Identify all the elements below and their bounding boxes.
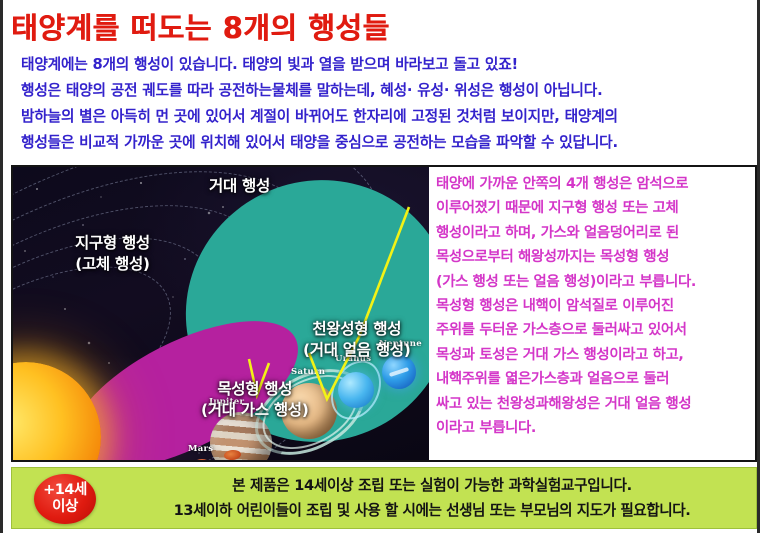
- description-line: 주위를 두터운 가스층으로 둘러싸고 있어서: [436, 318, 751, 342]
- label-uranian-line2: (거대 얼음 행성): [303, 340, 411, 361]
- label-uranian-line1: 천왕성형 행성: [303, 319, 411, 340]
- description-line: 태양에 가까운 안쪽의 4개 행성은 암석으로: [436, 172, 751, 196]
- infographic-page: 태양계를 떠도는 8개의 행성들 태양계에는 8개의 행성이 있습니다. 태양의…: [0, 0, 760, 533]
- footer-text-block: 본 제품은 14세이상 조립 또는 실험이 가능한 과학실험교구입니다. 13세…: [122, 473, 742, 523]
- label-giant-planets-text: 거대 행성: [209, 177, 270, 195]
- label-giant-planets: 거대 행성: [209, 176, 270, 197]
- description-line: 내핵주위를 엷은가스층과 얼음으로 둘러: [436, 367, 751, 391]
- description-line: 이라고 부릅니다.: [436, 416, 751, 440]
- description-line: 행성이라고 하며, 가스와 얼음덩어리로 된: [436, 221, 751, 245]
- description-line: 싸고 있는 천왕성과해왕성은 거대 얼음 행성: [436, 392, 751, 416]
- planet-mars-icon: [189, 459, 215, 460]
- footer-line-1: 본 제품은 14세이상 조립 또는 실험이 가능한 과학실험교구입니다.: [122, 473, 742, 498]
- label-uranian-planets: 천왕성형 행성 (거대 얼음 행성): [303, 319, 411, 361]
- description-panel: 태양에 가까운 안쪽의 4개 행성은 암석으로 이루어졌기 때문에 지구형 행성…: [429, 167, 755, 460]
- intro-line: 행성은 태양의 공전 궤도를 따라 공전하는물체를 말하는데, 혜성· 유성· …: [21, 78, 751, 104]
- description-line: 목성과 토성은 거대 가스 행성이라고 하고,: [436, 343, 751, 367]
- description-line: 목성으로부터 해왕성까지는 목성형 행성: [436, 245, 751, 269]
- description-line: 목성형 행성은 내핵이 암석질로 이루어진: [436, 294, 751, 318]
- page-title: 태양계를 떠도는 8개의 행성들: [11, 5, 390, 47]
- great-red-spot-icon: [223, 450, 241, 460]
- label-terrestrial-line1: 지구형 행성: [75, 233, 150, 254]
- intro-paragraph: 태양계에는 8개의 행성이 있습니다. 태양의 빛과 열을 받으며 바라보고 돌…: [13, 50, 755, 162]
- description-line: (가스 행성 또는 얼음 행성)이라고 부릅니다.: [436, 270, 751, 294]
- age-badge-bottom-text: 이상: [52, 499, 78, 516]
- label-terrestrial-line2: (고체 행성): [75, 254, 150, 275]
- intro-line: 행성들은 비교적 가까운 곳에 위치해 있어서 태양을 중심으로 공전하는 모습…: [21, 130, 751, 156]
- intro-line: 태양계에는 8개의 행성이 있습니다. 태양의 빛과 열을 받으며 바라보고 돌…: [21, 52, 751, 78]
- solar-system-illustration: Mercury Venus Earth Mars Jupiter Saturn …: [13, 167, 429, 460]
- middle-section: Mercury Venus Earth Mars Jupiter Saturn …: [11, 165, 757, 462]
- planet-uranus-icon: [338, 372, 374, 408]
- footer-line-2: 13세이하 어린이들이 조립 및 사용 할 시에는 선생님 또는 부모님의 지도…: [122, 498, 742, 523]
- planet-label-mars: Mars: [188, 444, 213, 454]
- age-badge: +14세 이상: [34, 474, 96, 524]
- neptune-cloud-streak-icon: [389, 367, 409, 377]
- page-title-bar: 태양계를 떠도는 8개의 행성들: [11, 4, 755, 48]
- sun-icon: [13, 362, 101, 460]
- age-badge-top-text: +14세: [43, 482, 87, 499]
- planet-label-saturn: Saturn: [291, 367, 325, 377]
- age-warning-footer: +14세 이상 본 제품은 14세이상 조립 또는 실험이 가능한 과학실험교구…: [11, 467, 757, 529]
- label-jovian-line2: (거대 가스 행성): [201, 400, 309, 421]
- label-jovian-planets: 목성형 행성 (거대 가스 행성): [201, 379, 309, 421]
- intro-line: 밤하늘의 별은 아득히 먼 곳에 있어서 계절이 바뀌어도 한자리에 고정된 것…: [21, 104, 751, 130]
- description-line: 이루어졌기 때문에 지구형 행성 또는 고체: [436, 196, 751, 220]
- label-terrestrial-planets: 지구형 행성 (고체 행성): [75, 233, 150, 275]
- label-jovian-line1: 목성형 행성: [201, 379, 309, 400]
